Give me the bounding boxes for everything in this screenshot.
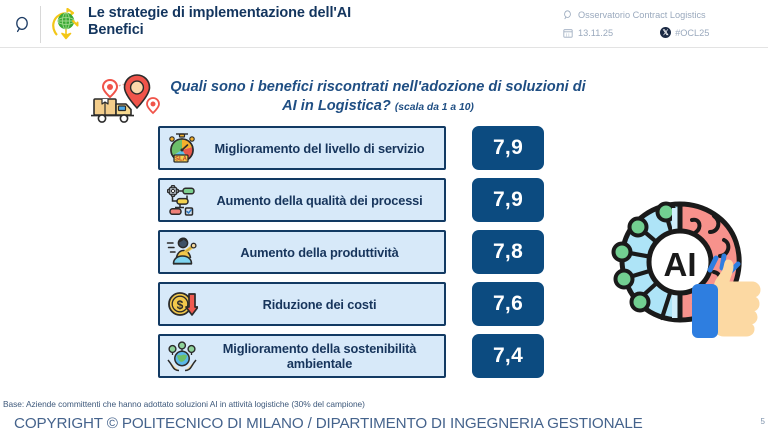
page-title-line2: Benefici [88,22,528,39]
benefits-list: SLA Miglioramento del livello di servizi… [158,126,558,386]
benefit-row: Aumento della produttività 7,8 [158,230,558,274]
observatory-globe-logo [49,8,81,40]
benefit-box-sustainability[interactable]: Miglioramento della sostenibilità ambien… [158,334,446,378]
benefit-score: 7,8 [472,230,544,274]
process-quality-gear-icon [165,183,199,217]
benefit-score: 7,6 [472,282,544,326]
benefit-label: Aumento della produttività [199,245,444,260]
delivery-truck-location-icon [90,70,162,126]
benefit-label: Miglioramento del livello di servizio [199,141,444,156]
benefit-box-service-level[interactable]: SLA Miglioramento del livello di servizi… [158,126,446,170]
observatory-name-row: Osservatorio Contract Logistics [562,7,762,22]
environmental-sustainability-hands-icon [165,339,199,373]
search-icon[interactable] [10,12,36,38]
stopwatch-sla-icon: SLA [165,131,199,165]
benefit-label: Riduzione dei costi [199,297,444,312]
question-heading: Quali sono i benefici riscontrati nell'a… [168,78,588,117]
brain-ai-label: AI [664,246,697,283]
magnifier-icon [562,9,574,21]
calendar-icon [562,27,574,39]
page-number: 5 [761,417,765,426]
base-note: Base: Aziende committenti che hanno adot… [3,399,365,409]
benefit-row: $ Riduzione dei costi 7,6 [158,282,558,326]
benefit-box-productivity[interactable]: Aumento della produttività [158,230,446,274]
benefit-row: SLA Miglioramento del livello di servizi… [158,126,558,170]
benefit-label: Miglioramento della sostenibilità ambien… [199,341,444,371]
header-meta: Osservatorio Contract Logistics 13.11.25… [562,7,762,40]
benefit-score: 7,9 [472,126,544,170]
cost-reduction-coin-arrow-icon: $ [165,287,199,321]
benefit-row: Miglioramento della sostenibilità ambien… [158,334,558,378]
benefit-label: Aumento della qualità dei processi [199,193,444,208]
slide-footer: Base: Aziende committenti che hanno adot… [0,395,768,444]
benefit-box-process-quality[interactable]: Aumento della qualità dei processi [158,178,446,222]
benefit-row: Aumento della qualità dei processi 7,9 [158,178,558,222]
social-hashtag-group[interactable]: 𝕏 #OCL25 [660,27,709,38]
observatory-name: Osservatorio Contract Logistics [578,10,706,20]
scale-note: (scala da 1 a 10) [395,102,474,113]
svg-text:SLA: SLA [175,157,188,163]
slide-body: Quali sono i benefici riscontrati nell'a… [0,48,768,395]
date-and-hashtag-row: 13.11.25 𝕏 #OCL25 [562,25,762,40]
slide-header: Le strategie di implementazione dell'AI … [0,0,768,48]
page-title: Le strategie di implementazione dell'AI … [88,5,528,39]
svg-text:$: $ [177,298,184,312]
header-divider [40,6,41,43]
question-line1: Quali sono i benefici riscontrati nell'a… [170,79,484,95]
benefit-box-cost-reduction[interactable]: $ Riduzione dei costi [158,282,446,326]
hashtag-label: #OCL25 [675,28,709,38]
event-date: 13.11.25 [578,28,613,38]
copyright-line: COPYRIGHT © POLITECNICO DI MILANO / DIPA… [14,415,643,432]
benefit-score: 7,4 [472,334,544,378]
slide-root: Le strategie di implementazione dell'AI … [0,0,768,444]
x-social-icon[interactable]: 𝕏 [660,27,671,38]
page-title-line1: Le strategie di implementazione dell'AI [88,5,351,21]
productivity-worker-icon [165,235,199,269]
benefit-score: 7,9 [472,178,544,222]
ai-brain-thumbs-up-illustration: AI [596,196,764,346]
